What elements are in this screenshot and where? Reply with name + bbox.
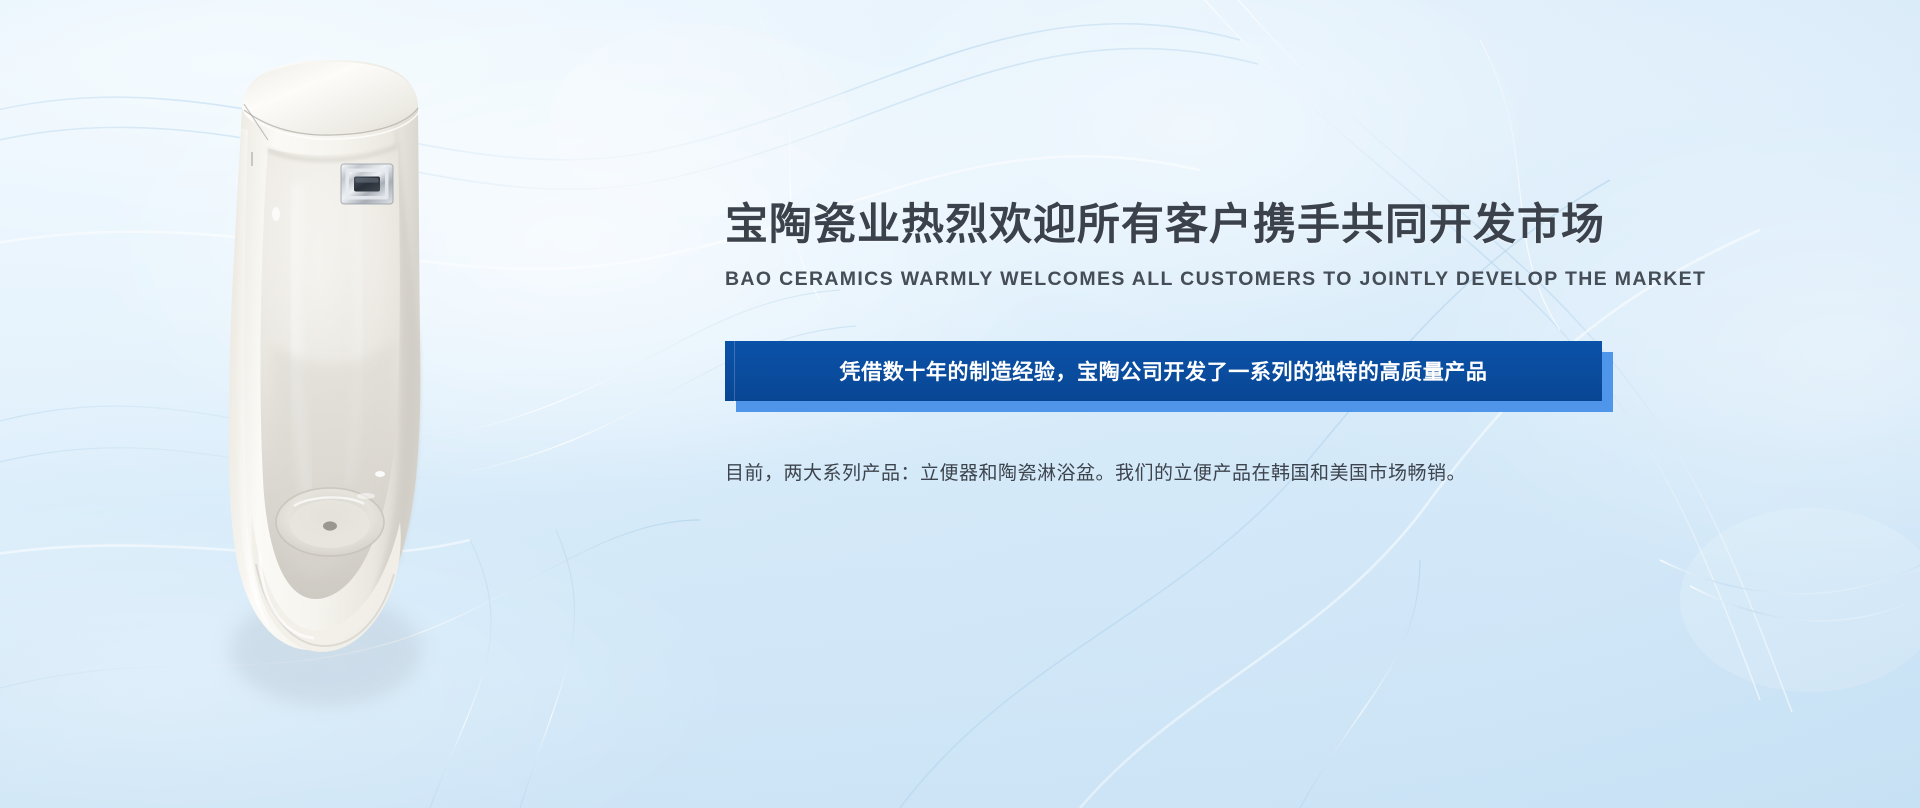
callout-text: 凭借数十年的制造经验，宝陶公司开发了一系列的独特的高质量产品 (840, 356, 1488, 386)
banner-subheadline-english: BAO CERAMICS WARMLY WELCOMES ALL CUSTOME… (725, 268, 1835, 291)
sensor-plate (341, 164, 393, 204)
banner-headline: 宝陶瓷业热烈欢迎所有客户携手共同开发市场 (725, 200, 1835, 251)
banner-body-paragraph: 目前，两大系列产品：立便器和陶瓷淋浴盆。我们的立便产品在韩国和美国市场畅销。 (725, 459, 1835, 489)
banner-copy: 宝陶瓷业热烈欢迎所有客户携手共同开发市场 BAO CERAMICS WARMLY… (725, 200, 1835, 490)
callout-banner: 凭借数十年的制造经验，宝陶公司开发了一系列的独特的高质量产品 (725, 341, 1602, 411)
hero-banner: 宝陶瓷业热烈欢迎所有客户携手共同开发市场 BAO CERAMICS WARMLY… (0, 0, 1920, 808)
callout-bar: 凭借数十年的制造经验，宝陶公司开发了一系列的独特的高质量产品 (725, 341, 1602, 401)
product-image-ceramic-urinal (148, 44, 488, 744)
